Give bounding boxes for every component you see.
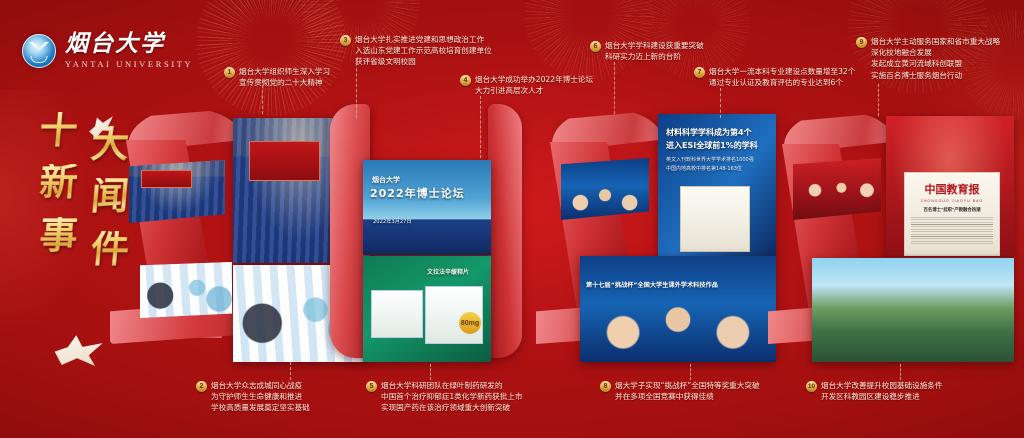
forum-date-label: 2022年3月27日 [373,220,412,226]
caption-item-10[interactable]: 10 烟台大学改善提升校园基础设施条件 开发区科教园区建设稳步推进 [806,380,1006,402]
caption-number-badge: 2 [196,381,207,392]
forum-year-heading: 2022年博士论坛 [370,188,465,201]
caption-item-4[interactable]: 4 烟台大学成功举办2022年博士论坛 大力引进高层次人才 [460,74,630,96]
caption-leader-4 [480,96,481,158]
caption-number-badge: 5 [366,381,377,392]
caption-number-badge: 8 [600,381,611,392]
photo-challenge-cup: 第十七届“挑战杯”全国大学生课外学术科技作品 [580,256,776,362]
certificate-thumbnail [680,186,750,252]
caption-item-6[interactable]: 6 烟台大学学科建设获重要突破 科研实力迈上新的台阶 [590,40,760,62]
caption-text: 烟台大学一流本科专业建设点数量增至32个 通过专业认证及教育评估的专业达到6个 [709,66,855,88]
caption-text: 烟台大学众志成城同心战疫 为守护师生生命健康和推进 学校高质量发展奠定坚实基础 [211,380,310,414]
medicine-dose-badge: 80mg [459,312,481,334]
logo-name-en: YANTAI UNIVERSITY [65,59,193,69]
esi-headline-line2: 进入ESI全球前1%的学科 [666,141,758,152]
caption-text: 烟台大学成功举办2022年博士论坛 大力引进高层次人才 [475,74,593,96]
title-char: 事 [32,217,84,267]
caption-leader-10 [900,364,901,380]
photo-ceremony-small [793,158,881,220]
newspaper-subtitle: ZHONGGUO JIAOYU BAO [905,199,999,203]
page-title: 十 大 新 闻 事 件 [34,112,134,267]
caption-item-7[interactable]: 7 烟台大学一流本科专业建设点数量增至32个 通过专业认证及教育评估的专业达到6… [694,66,880,88]
caption-number-badge: 1 [224,67,235,78]
newspaper-headline: 百名博士“挂职”产教融合热潮 [905,207,999,213]
firework-icon [196,0,346,116]
caption-number-badge: 3 [340,35,351,46]
photo-newspaper-ceremony: 中国教育报 ZHONGGUO JIAOYU BAO 百名博士“挂职”产教融合热潮 [886,116,1014,258]
caption-text: 烟台大学改善提升校园基础设施条件 开发区科教园区建设稳步推进 [821,380,943,402]
dove-icon [50,325,106,372]
caption-number-badge: 9 [856,37,867,48]
photo-medicine-product: 文拉法辛缓释片 80mg [363,256,491,362]
photo-auditorium-small [129,160,225,223]
newspaper-title: 中国教育报 [905,181,999,197]
caption-text: 烟台大学扎实推进党建和思想政治工作 入选山东党建工作示范高校培育创建单位 获评省… [355,34,492,68]
caption-text: 烟大学子实现“挑战杯”全国特等奖重大突破 并在多项全国竞赛中获得佳绩 [615,380,760,402]
newspaper-sheet: 中国教育报 ZHONGGUO JIAOYU BAO 百名博士“挂职”产教融合热潮 [904,172,1000,256]
caption-number-badge: 4 [460,75,471,86]
caption-item-1[interactable]: 1 烟台大学组织师生深入学习 宣传贯彻党的二十大精神 [224,66,374,88]
title-char: 十 [32,112,84,162]
title-char: 闻 [84,178,135,214]
caption-number-badge: 6 [590,41,601,52]
yantai-university-crest-icon [22,34,56,68]
title-char: 新 [32,164,84,214]
esi-sub-line1: 英文入刊软科世界大学学术排名1000强 [666,158,754,164]
photo-esi-achievement: 材料科学学科成为第4个 进入ESI全球前1%的学科 英文入刊软科世界大学学术排名… [658,114,776,259]
caption-number-badge: 7 [694,67,705,78]
caption-leader-2 [290,362,291,380]
caption-text: 烟台大学科研团队在绿叶制药研发的 中国首个治疗抑郁症1类化学新药获批上市 实现国… [381,380,523,414]
newspaper-body-lines [911,217,993,245]
caption-item-8[interactable]: 8 烟大学子实现“挑战杯”全国特等奖重大突破 并在多项全国竞赛中获得佳绩 [600,380,800,402]
caption-text: 烟台大学主动服务国家和省市重大战略 深化校地融合发展 发起成立黄河流域科创联盟 … [871,36,1000,81]
caption-leader-8 [690,364,691,380]
logo-name-cn: 烟台大学 [65,33,193,56]
poster-canvas: 烟台大学 YANTAI UNIVERSITY 十 大 新 闻 事 件 [0,0,1024,438]
photo-campus-aerial [812,258,1014,362]
caption-number-badge: 10 [806,381,817,392]
caption-item-3[interactable]: 3 烟台大学扎实推进党建和思想政治工作 入选山东党建工作示范高校培育创建单位 获… [340,34,520,68]
photo-doctor-forum-poster: 2022年博士论坛 烟台大学 2022年3月27日 [363,160,491,255]
photo-faculty-small [561,158,649,220]
forum-school-label: 烟台大学 [372,176,400,184]
caption-text: 烟台大学学科建设获重要突破 科研实力迈上新的台阶 [605,40,704,62]
photo-covid-response-small [140,262,232,318]
caption-leader-6 [614,62,615,114]
caption-leader-7 [720,88,721,118]
caption-leader-5 [430,364,431,380]
university-logo: 烟台大学 YANTAI UNIVERSITY [22,33,193,69]
esi-headline-line1: 材料科学学科成为第4个 [666,128,752,139]
caption-item-9[interactable]: 9 烟台大学主动服务国家和省市重大战略 深化校地融合发展 发起成立黄河流域科创联… [856,36,1024,81]
esi-sub-line2: 中国内地高校中排名第148-163位 [666,167,742,173]
title-char: 件 [84,231,135,267]
caption-item-5[interactable]: 5 烟台大学科研团队在绿叶制药研发的 中国首个治疗抑郁症1类化学新药获批上市 实… [366,380,578,414]
caption-leader-9 [878,84,879,116]
medicine-name-label: 文拉法辛缓释片 [427,270,469,277]
caption-text: 烟台大学组织师生深入学习 宣传贯彻党的二十大精神 [239,66,330,88]
caption-item-2[interactable]: 2 烟台大学众志成城同心战疫 为守护师生生命健康和推进 学校高质量发展奠定坚实基… [196,380,372,414]
